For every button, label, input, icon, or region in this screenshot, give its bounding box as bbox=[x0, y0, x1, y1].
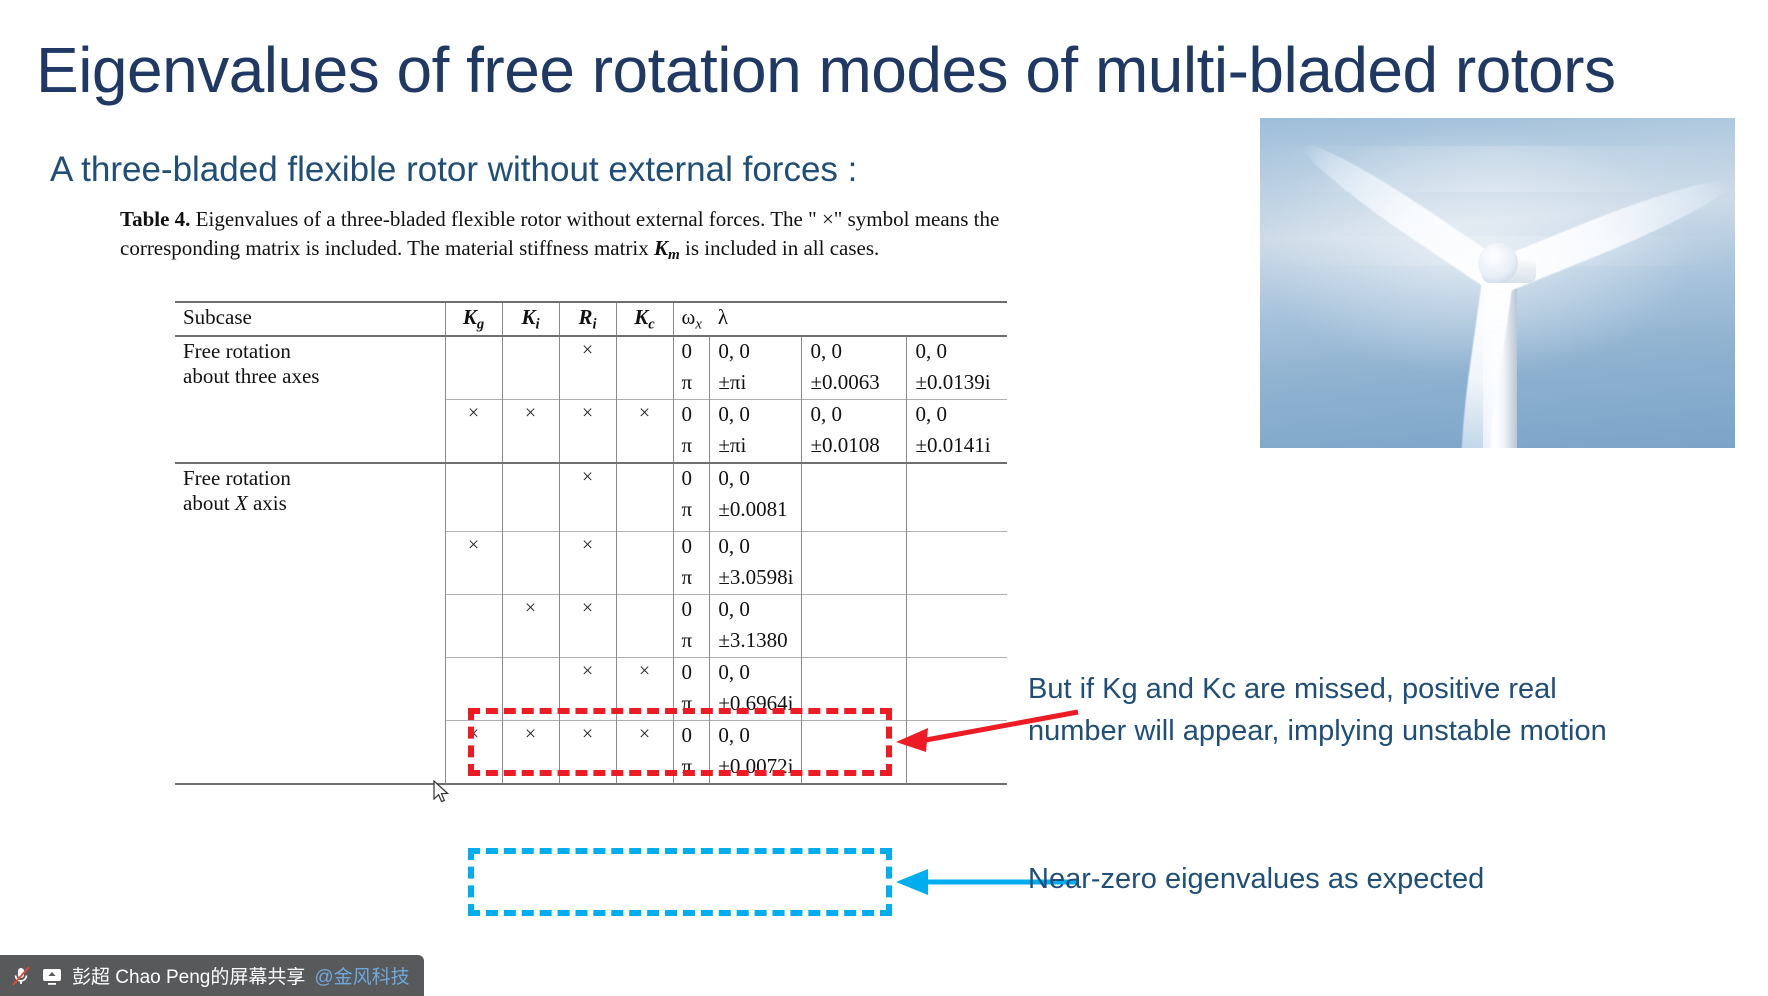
cell-kc bbox=[616, 594, 673, 626]
cell-ri: × bbox=[559, 657, 616, 689]
cell-lambda-2 bbox=[802, 594, 907, 626]
table-header-row: Subcase Kg Ki Ri Kc ωx λ bbox=[175, 302, 1007, 336]
cell-ki bbox=[502, 463, 559, 495]
red-highlight-box bbox=[468, 708, 892, 776]
header-lambda: λ bbox=[710, 302, 1007, 336]
cell-lambda-1: 0, 0 bbox=[710, 463, 802, 495]
red-annotation-text: But if Kg and Kc are missed, positive re… bbox=[1028, 668, 1728, 752]
header-kc: Kc bbox=[616, 302, 673, 336]
subcase-label-free-rotation-x-axis: Free rotation about X axis bbox=[175, 463, 445, 784]
cell-kg bbox=[445, 594, 502, 626]
table-caption-line1: Eigenvalues of a three-bladed flexible r… bbox=[196, 207, 843, 231]
cell-omega: 0 bbox=[673, 400, 710, 432]
cell-omega: π bbox=[673, 368, 710, 400]
page-title: Eigenvalues of free rotation modes of mu… bbox=[36, 32, 1716, 108]
cell-ki: × bbox=[502, 400, 559, 432]
cell-omega: π bbox=[673, 431, 710, 463]
cell-kc: × bbox=[616, 657, 673, 689]
cell-ki: × bbox=[502, 594, 559, 626]
cell-lambda-2 bbox=[802, 563, 907, 595]
cell-lambda-2 bbox=[802, 531, 907, 563]
cell-ri bbox=[559, 431, 616, 463]
cell-omega: 0 bbox=[673, 531, 710, 563]
cell-lambda-1: 0, 0 bbox=[710, 594, 802, 626]
mic-muted-icon[interactable] bbox=[10, 965, 32, 987]
cell-ki bbox=[502, 368, 559, 400]
cell-ri bbox=[559, 563, 616, 595]
subcase-x-axis-line2: about X axis bbox=[183, 491, 437, 516]
cell-ri: × bbox=[559, 594, 616, 626]
cell-kc bbox=[616, 495, 673, 531]
cell-lambda-1: ±πi bbox=[710, 431, 802, 463]
cell-lambda-2 bbox=[802, 495, 907, 531]
share-owner-label: 彭超 Chao Peng的屏幕共享 bbox=[72, 962, 305, 989]
cell-kc bbox=[616, 336, 673, 368]
cell-omega: 0 bbox=[673, 336, 710, 368]
cell-ri bbox=[559, 495, 616, 531]
table-row: Free rotation about X axis × 0 0, 0 bbox=[175, 463, 1007, 495]
cell-lambda-3: ±0.0139i bbox=[907, 368, 1007, 400]
cell-lambda-1: 0, 0 bbox=[710, 336, 802, 368]
screen-share-indicator[interactable]: 彭超 Chao Peng的屏幕共享 @金风科技 bbox=[0, 955, 424, 996]
turbine-hub bbox=[1478, 243, 1518, 283]
table-block: Table 4. Eigenvalues of a three-bladed f… bbox=[120, 205, 1130, 270]
cell-lambda-1: ±πi bbox=[710, 368, 802, 400]
cell-kg: × bbox=[445, 400, 502, 432]
cell-kc: × bbox=[616, 400, 673, 432]
table-row: Free rotation about three axes × 0 0, 0 … bbox=[175, 336, 1007, 368]
cell-lambda-3: 0, 0 bbox=[907, 336, 1007, 368]
table-caption-line3: is included in all cases. bbox=[685, 236, 879, 260]
table-caption-label: Table 4. bbox=[120, 207, 190, 231]
cell-lambda-2 bbox=[802, 626, 907, 658]
subcase-label-free-rotation-three-axes: Free rotation about three axes bbox=[175, 336, 445, 463]
cell-kc bbox=[616, 463, 673, 495]
cell-kc bbox=[616, 431, 673, 463]
cell-ki bbox=[502, 531, 559, 563]
cell-ki bbox=[502, 626, 559, 658]
cell-lambda-2: ±0.0108 bbox=[802, 431, 907, 463]
cell-lambda-3 bbox=[907, 495, 1007, 531]
cell-ki bbox=[502, 431, 559, 463]
cell-omega: 0 bbox=[673, 463, 710, 495]
cell-kg bbox=[445, 463, 502, 495]
caption-km-symbol: Km bbox=[654, 236, 680, 260]
cell-kg bbox=[445, 495, 502, 531]
mouse-cursor bbox=[432, 780, 452, 806]
cell-ri: × bbox=[559, 531, 616, 563]
red-annotation-line1: But if Kg and Kc are missed, positive re… bbox=[1028, 668, 1728, 710]
cell-kc bbox=[616, 563, 673, 595]
screen-share-icon[interactable] bbox=[41, 965, 63, 987]
cell-ki bbox=[502, 495, 559, 531]
cyan-annotation-text: Near-zero eigenvalues as expected bbox=[1028, 858, 1728, 900]
cell-lambda-3 bbox=[907, 531, 1007, 563]
cell-lambda-1: 0, 0 bbox=[710, 531, 802, 563]
wind-turbine-photo bbox=[1260, 118, 1735, 448]
cell-kc bbox=[616, 626, 673, 658]
cell-lambda-1: ±3.1380 bbox=[710, 626, 802, 658]
slide-subtitle: A three-bladed flexible rotor without ex… bbox=[50, 148, 857, 192]
cell-lambda-2: ±0.0063 bbox=[802, 368, 907, 400]
cell-kg: × bbox=[445, 531, 502, 563]
cell-lambda-1: 0, 0 bbox=[710, 657, 802, 689]
table-caption: Table 4. Eigenvalues of a three-bladed f… bbox=[120, 205, 1050, 270]
cell-kg bbox=[445, 563, 502, 595]
cell-ri: × bbox=[559, 400, 616, 432]
cell-omega: π bbox=[673, 626, 710, 658]
cell-lambda-2: 0, 0 bbox=[802, 400, 907, 432]
cell-kg bbox=[445, 431, 502, 463]
red-annotation-line2: number will appear, implying unstable mo… bbox=[1028, 710, 1728, 752]
cell-kc bbox=[616, 368, 673, 400]
table-bottom-rule-row bbox=[175, 784, 1007, 786]
cell-lambda-3: 0, 0 bbox=[907, 400, 1007, 432]
cell-ri bbox=[559, 368, 616, 400]
cell-lambda-3 bbox=[907, 594, 1007, 626]
cell-lambda-1: ±3.0598i bbox=[710, 563, 802, 595]
cell-lambda-1: ±0.0081 bbox=[710, 495, 802, 531]
cell-lambda-2: 0, 0 bbox=[802, 336, 907, 368]
share-org-label: @金风科技 bbox=[314, 962, 409, 989]
cell-lambda-3 bbox=[907, 463, 1007, 495]
cell-omega: 0 bbox=[673, 594, 710, 626]
cell-ri: × bbox=[559, 336, 616, 368]
header-subcase: Subcase bbox=[175, 302, 445, 336]
cell-kg bbox=[445, 336, 502, 368]
taskbar: 彭超 Chao Peng的屏幕共享 @金风科技 bbox=[0, 955, 1768, 996]
cell-ki bbox=[502, 336, 559, 368]
slide-canvas: Eigenvalues of free rotation modes of mu… bbox=[0, 0, 1768, 996]
cell-ri: × bbox=[559, 463, 616, 495]
cyan-highlight-box bbox=[468, 848, 892, 916]
cell-lambda-2 bbox=[802, 463, 907, 495]
cell-lambda-3: ±0.0141i bbox=[907, 431, 1007, 463]
header-kg: Kg bbox=[445, 302, 502, 336]
cell-kg bbox=[445, 657, 502, 689]
cell-lambda-3 bbox=[907, 657, 1007, 689]
cell-lambda-2 bbox=[802, 657, 907, 689]
header-ki: Ki bbox=[502, 302, 559, 336]
cell-ki bbox=[502, 657, 559, 689]
cell-kg bbox=[445, 368, 502, 400]
cell-lambda-3 bbox=[907, 626, 1007, 658]
cell-omega: π bbox=[673, 563, 710, 595]
header-omega-x: ωx bbox=[673, 302, 710, 336]
cell-omega: 0 bbox=[673, 657, 710, 689]
cell-kc bbox=[616, 531, 673, 563]
cell-omega: π bbox=[673, 495, 710, 531]
cell-lambda-3 bbox=[907, 563, 1007, 595]
cell-lambda-1: 0, 0 bbox=[710, 400, 802, 432]
header-ri: Ri bbox=[559, 302, 616, 336]
cell-kg bbox=[445, 626, 502, 658]
cell-ki bbox=[502, 563, 559, 595]
cell-ri bbox=[559, 626, 616, 658]
